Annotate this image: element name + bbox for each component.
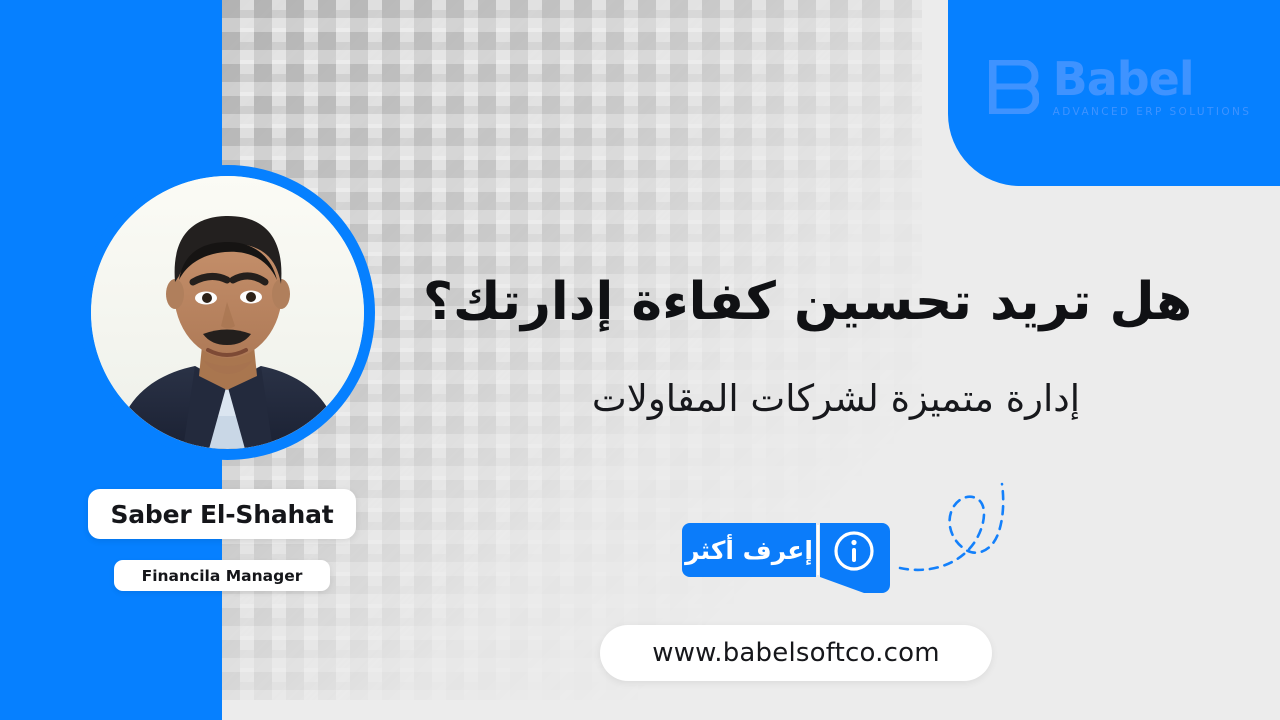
brand-tagline: ADVANCED ERP SOLUTIONS: [1053, 106, 1252, 118]
person-role-badge: Financila Manager: [114, 560, 330, 591]
website-url: www.babelsoftco.com: [652, 638, 940, 668]
person-name-badge: Saber El-Shahat: [88, 489, 356, 539]
avatar: [80, 165, 375, 460]
person-name: Saber El-Shahat: [110, 500, 333, 529]
dashed-loop-swirl-icon: [898, 478, 1018, 588]
learn-more-button[interactable]: إعرف أكثر: [682, 523, 890, 601]
brand-logo-panel: Babel ADVANCED ERP SOLUTIONS: [948, 0, 1280, 186]
logo-lockup: Babel ADVANCED ERP SOLUTIONS: [989, 56, 1252, 118]
avatar-photo: [91, 176, 364, 449]
logo-text-block: Babel ADVANCED ERP SOLUTIONS: [1053, 56, 1252, 118]
website-url-pill[interactable]: www.babelsoftco.com: [600, 625, 992, 681]
promo-banner: Babel ADVANCED ERP SOLUTIONS: [0, 0, 1280, 720]
page-subtitle: إدارة متميزة لشركات المقاولات: [400, 376, 1080, 422]
page-title: هل تريد تحسين كفاءة إدارتك؟: [412, 272, 1192, 333]
person-role: Financila Manager: [142, 567, 303, 585]
brand-name: Babel: [1053, 56, 1194, 102]
babel-b-monogram-icon: [989, 60, 1039, 114]
